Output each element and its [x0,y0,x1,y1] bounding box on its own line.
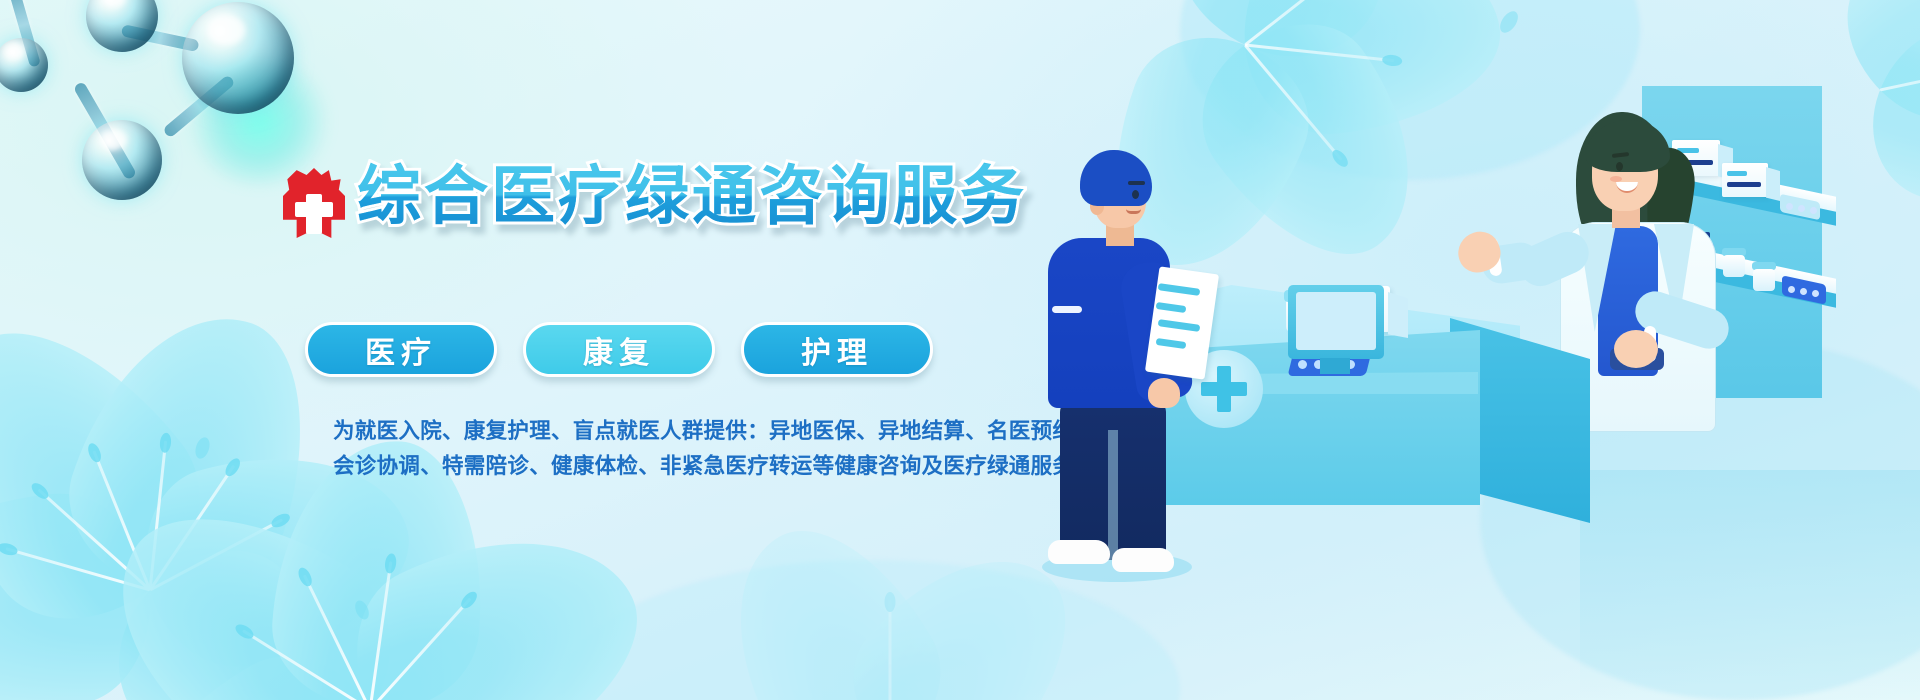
pharmacist-eye [1616,162,1623,171]
patient-shoe-right [1112,548,1174,572]
description-line-2: 会诊协调、特需陪诊、健康体检、非紧急医疗转运等健康咨询及医疗绿通服务。 [333,449,963,484]
shelf-medicine-box [1722,163,1768,197]
blister-pill [1786,203,1793,210]
patient-shoe-left [1048,540,1110,564]
blister-pill [1812,290,1819,297]
medicine-jar [1753,269,1775,291]
counter-medicine-box-side [1388,292,1408,338]
page-title: 综合医疗绿通咨询服务 [357,164,1027,228]
service-tag-medical[interactable]: 医疗 [305,322,497,377]
blister-pill [1810,207,1817,214]
healthcare-service-banner: 综合医疗绿通咨询服务 综合医疗绿通咨询服务 医疗 康复 护理 为就医入院、康复护… [0,0,1920,700]
service-tag-nursing[interactable]: 护理 [741,322,933,377]
pharmacy-illustration [1020,0,1920,700]
red-cross-medical-logo-icon [283,168,345,238]
blister-pill [1788,286,1795,293]
medicine-jar [1723,255,1745,277]
patient-eye [1132,190,1139,199]
service-tag-rehabilitation[interactable]: 康复 [523,322,715,377]
blister-pill [1298,360,1307,369]
box-label-stripe [1727,182,1761,187]
banner-content: 综合医疗绿通咨询服务 综合医疗绿通咨询服务 医疗 康复 护理 为就医入院、康复护… [0,0,1050,700]
patient-hand [1148,378,1180,408]
patient-hair [1080,150,1152,206]
floor-shading [1580,470,1920,700]
box-label-stripe [1727,171,1747,176]
banner-description: 为就医入院、康复护理、盲点就医人群提供：异地医保、异地结算、名医预约 会诊协调、… [333,414,963,484]
patient-sleeve-stripe [1052,306,1082,313]
blister-pill [1798,205,1805,212]
counter-monitor-screen [1296,292,1376,350]
white-cross-icon [306,194,322,234]
service-tag-list: 医疗 康复 护理 [305,322,933,377]
description-line-1: 为就医入院、康复护理、盲点就医人群提供：异地医保、异地结算、名医预约 [333,414,963,449]
shelf-medicine-box-side [1766,167,1780,201]
patient-eyebrow [1128,181,1145,185]
patient-leg-separation [1108,430,1118,560]
blister-pill [1800,288,1807,295]
counter-monitor-stand [1320,358,1350,374]
pharmacist-hand-right [1614,330,1658,368]
